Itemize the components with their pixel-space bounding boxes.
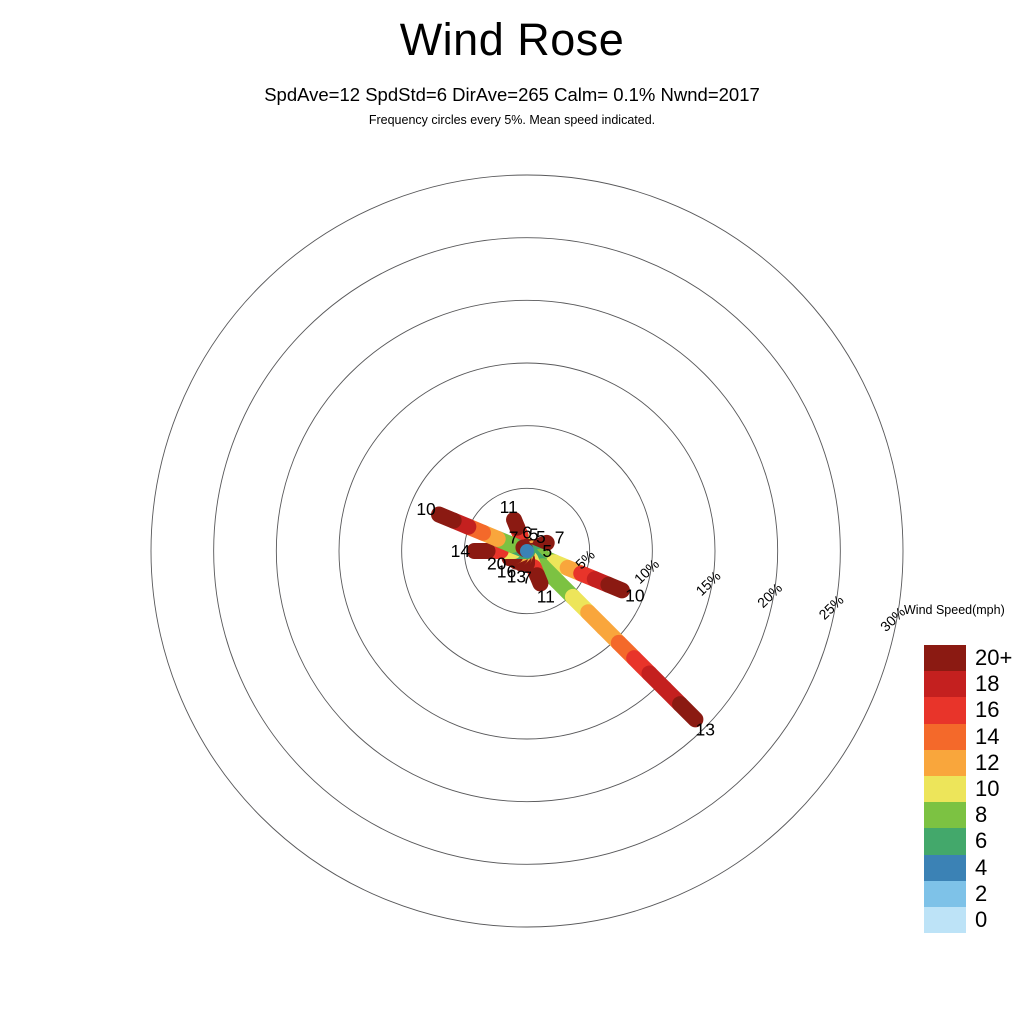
legend-swatch (924, 828, 966, 854)
legend-label: 18 (971, 671, 1023, 697)
ring-label: 20% (754, 580, 785, 611)
petal-segment (537, 575, 540, 583)
legend-label: 4 (971, 855, 1023, 881)
petal-mean-speed-label: 7 (509, 528, 519, 548)
legend-swatch (924, 881, 966, 907)
legend-label: 14 (971, 724, 1023, 750)
legend-label: 20+ (971, 645, 1023, 671)
ring-label: 25% (815, 592, 846, 623)
petal-mean-speed-label: 14 (451, 541, 471, 561)
legend-label: 0 (971, 907, 1023, 933)
legend-swatch (924, 750, 966, 776)
petal-segment (608, 585, 622, 591)
petal-mean-speed-label: 10 (625, 586, 645, 606)
legend-label: 12 (971, 750, 1023, 776)
petal-mean-speed-label: 5 (542, 541, 552, 561)
petal-group (439, 515, 695, 720)
legend-label: 16 (971, 697, 1023, 723)
legend-label: 8 (971, 802, 1023, 828)
petal-segment (514, 520, 517, 528)
legend-swatch (924, 776, 966, 802)
legend-swatches (924, 645, 966, 933)
legend-label: 10 (971, 776, 1023, 802)
petal-mean-speed-label: 7 (555, 527, 565, 547)
petal-mean-speed-label: 11 (537, 586, 555, 606)
wind-rose-figure: Wind Rose SpdAve=12 SpdStd=6 DirAve=265 … (0, 0, 1024, 1024)
legend-labels: 20+181614121086420 (971, 645, 1023, 933)
petal-segment (439, 515, 454, 521)
legend-swatch (924, 802, 966, 828)
petal-mean-speed-label: 10 (416, 499, 436, 519)
legend-swatch (924, 697, 966, 723)
legend-label: 6 (971, 828, 1023, 854)
calm-hub (520, 544, 534, 558)
petal-segment (680, 704, 695, 719)
petal-mean-speed-label: 13 (696, 719, 715, 739)
legend-swatch (924, 645, 966, 671)
legend-title: Wind Speed(mph) (904, 603, 1005, 617)
legend-swatch (924, 724, 966, 750)
petal-mean-speed-label: 11 (500, 497, 518, 517)
legend-label: 2 (971, 881, 1023, 907)
petal-mean-speed-label: 20 (487, 554, 507, 574)
legend-swatch (924, 907, 966, 933)
ring-label: 15% (692, 568, 723, 599)
legend-swatch (924, 671, 966, 697)
polar-plot: 5%10%15%20%25%30% 1165575101311713162014… (0, 0, 1024, 1024)
ring-label: 10% (631, 556, 662, 587)
legend-swatch (924, 855, 966, 881)
